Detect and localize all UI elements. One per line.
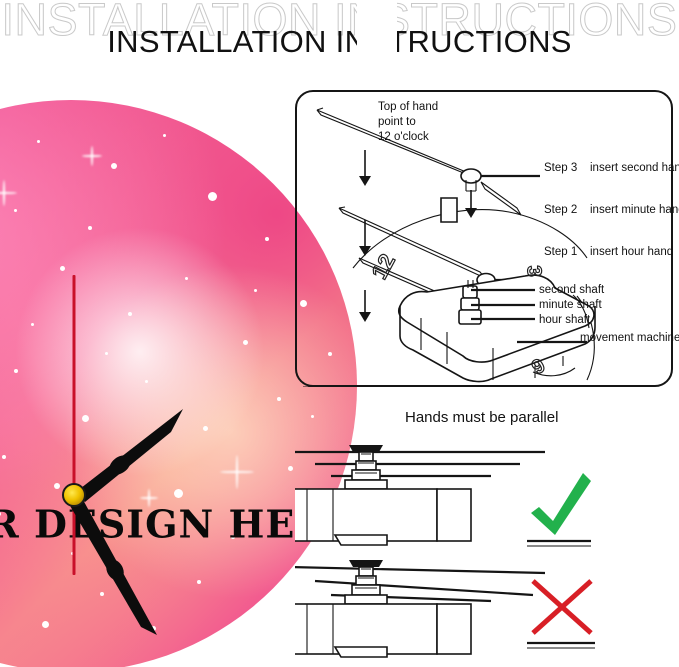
- step-2-label: Step 2insert minute hand: [544, 204, 679, 216]
- correct-example: [295, 445, 545, 545]
- minute-hand: [74, 409, 183, 502]
- step-1-number: Step 1: [544, 246, 590, 258]
- callout-line-2: point to: [378, 115, 438, 130]
- callout-line-1: Top of hand: [378, 100, 438, 115]
- shafts: [441, 198, 457, 222]
- step-3-label: Step 3insert second hand: [544, 162, 679, 174]
- step-3-text: insert second hand: [590, 162, 679, 174]
- wrong-example: [295, 560, 545, 657]
- step-2-number: Step 2: [544, 204, 590, 216]
- step-1-text: insert hour hand: [590, 246, 673, 258]
- step-2-text: insert minute hand: [590, 204, 679, 216]
- step-1-label: Step 1insert hour hand: [544, 246, 673, 258]
- step-3-number: Step 3: [544, 162, 590, 174]
- callout-line-3: 12 o'clock: [378, 130, 438, 145]
- screenshot-root: INSTALLATION INSTRUCTIONS INSTALLATION I…: [0, 0, 679, 667]
- label-movement-machine: movement machine: [580, 331, 679, 346]
- parallel-hands-svg: [295, 395, 673, 663]
- cross-icon: [527, 581, 595, 648]
- callout-top-of-hand: Top of hand point to 12 o'clock: [378, 100, 438, 146]
- label-hour-shaft: hour shaft: [539, 313, 590, 328]
- dial-numeral-3: 3: [520, 265, 547, 278]
- page-title: INSTALLATION INSTRUCTIONS: [107, 24, 572, 60]
- label-minute-shaft: minute shaft: [539, 298, 602, 313]
- label-second-shaft: second shaft: [539, 283, 604, 298]
- clock-center-hub: [68, 489, 81, 502]
- hour-hand: [69, 495, 157, 635]
- check-icon: [527, 473, 591, 546]
